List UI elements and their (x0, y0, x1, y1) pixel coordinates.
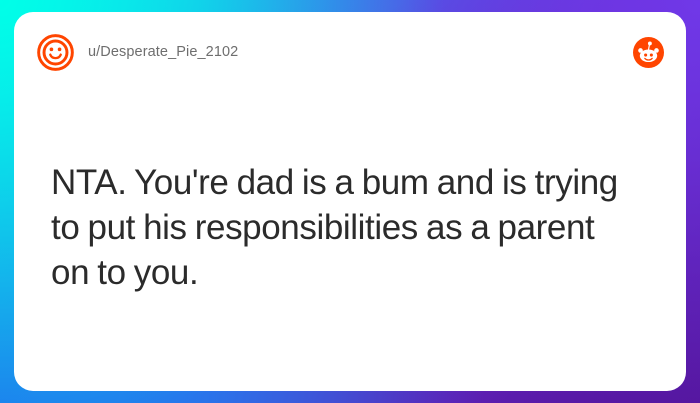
reddit-comment-screenshot: u/Desperate_Pie_2102 NTA. You're dad is … (0, 0, 700, 403)
reddit-snoo-logo-icon[interactable] (633, 37, 664, 68)
post-header: u/Desperate_Pie_2102 (14, 12, 686, 92)
post-card: u/Desperate_Pie_2102 NTA. You're dad is … (14, 12, 686, 391)
username-label[interactable]: u/Desperate_Pie_2102 (88, 44, 238, 60)
post-body-line: on to you. (51, 250, 657, 295)
smiley-face-avatar-icon[interactable] (37, 34, 74, 71)
post-body-text: NTA. You're dad is a bum and is trying t… (51, 160, 657, 295)
post-body-line: NTA. You're dad is a bum and is trying (51, 160, 657, 205)
post-body-line: to put his responsibilities as a parent (51, 205, 657, 250)
